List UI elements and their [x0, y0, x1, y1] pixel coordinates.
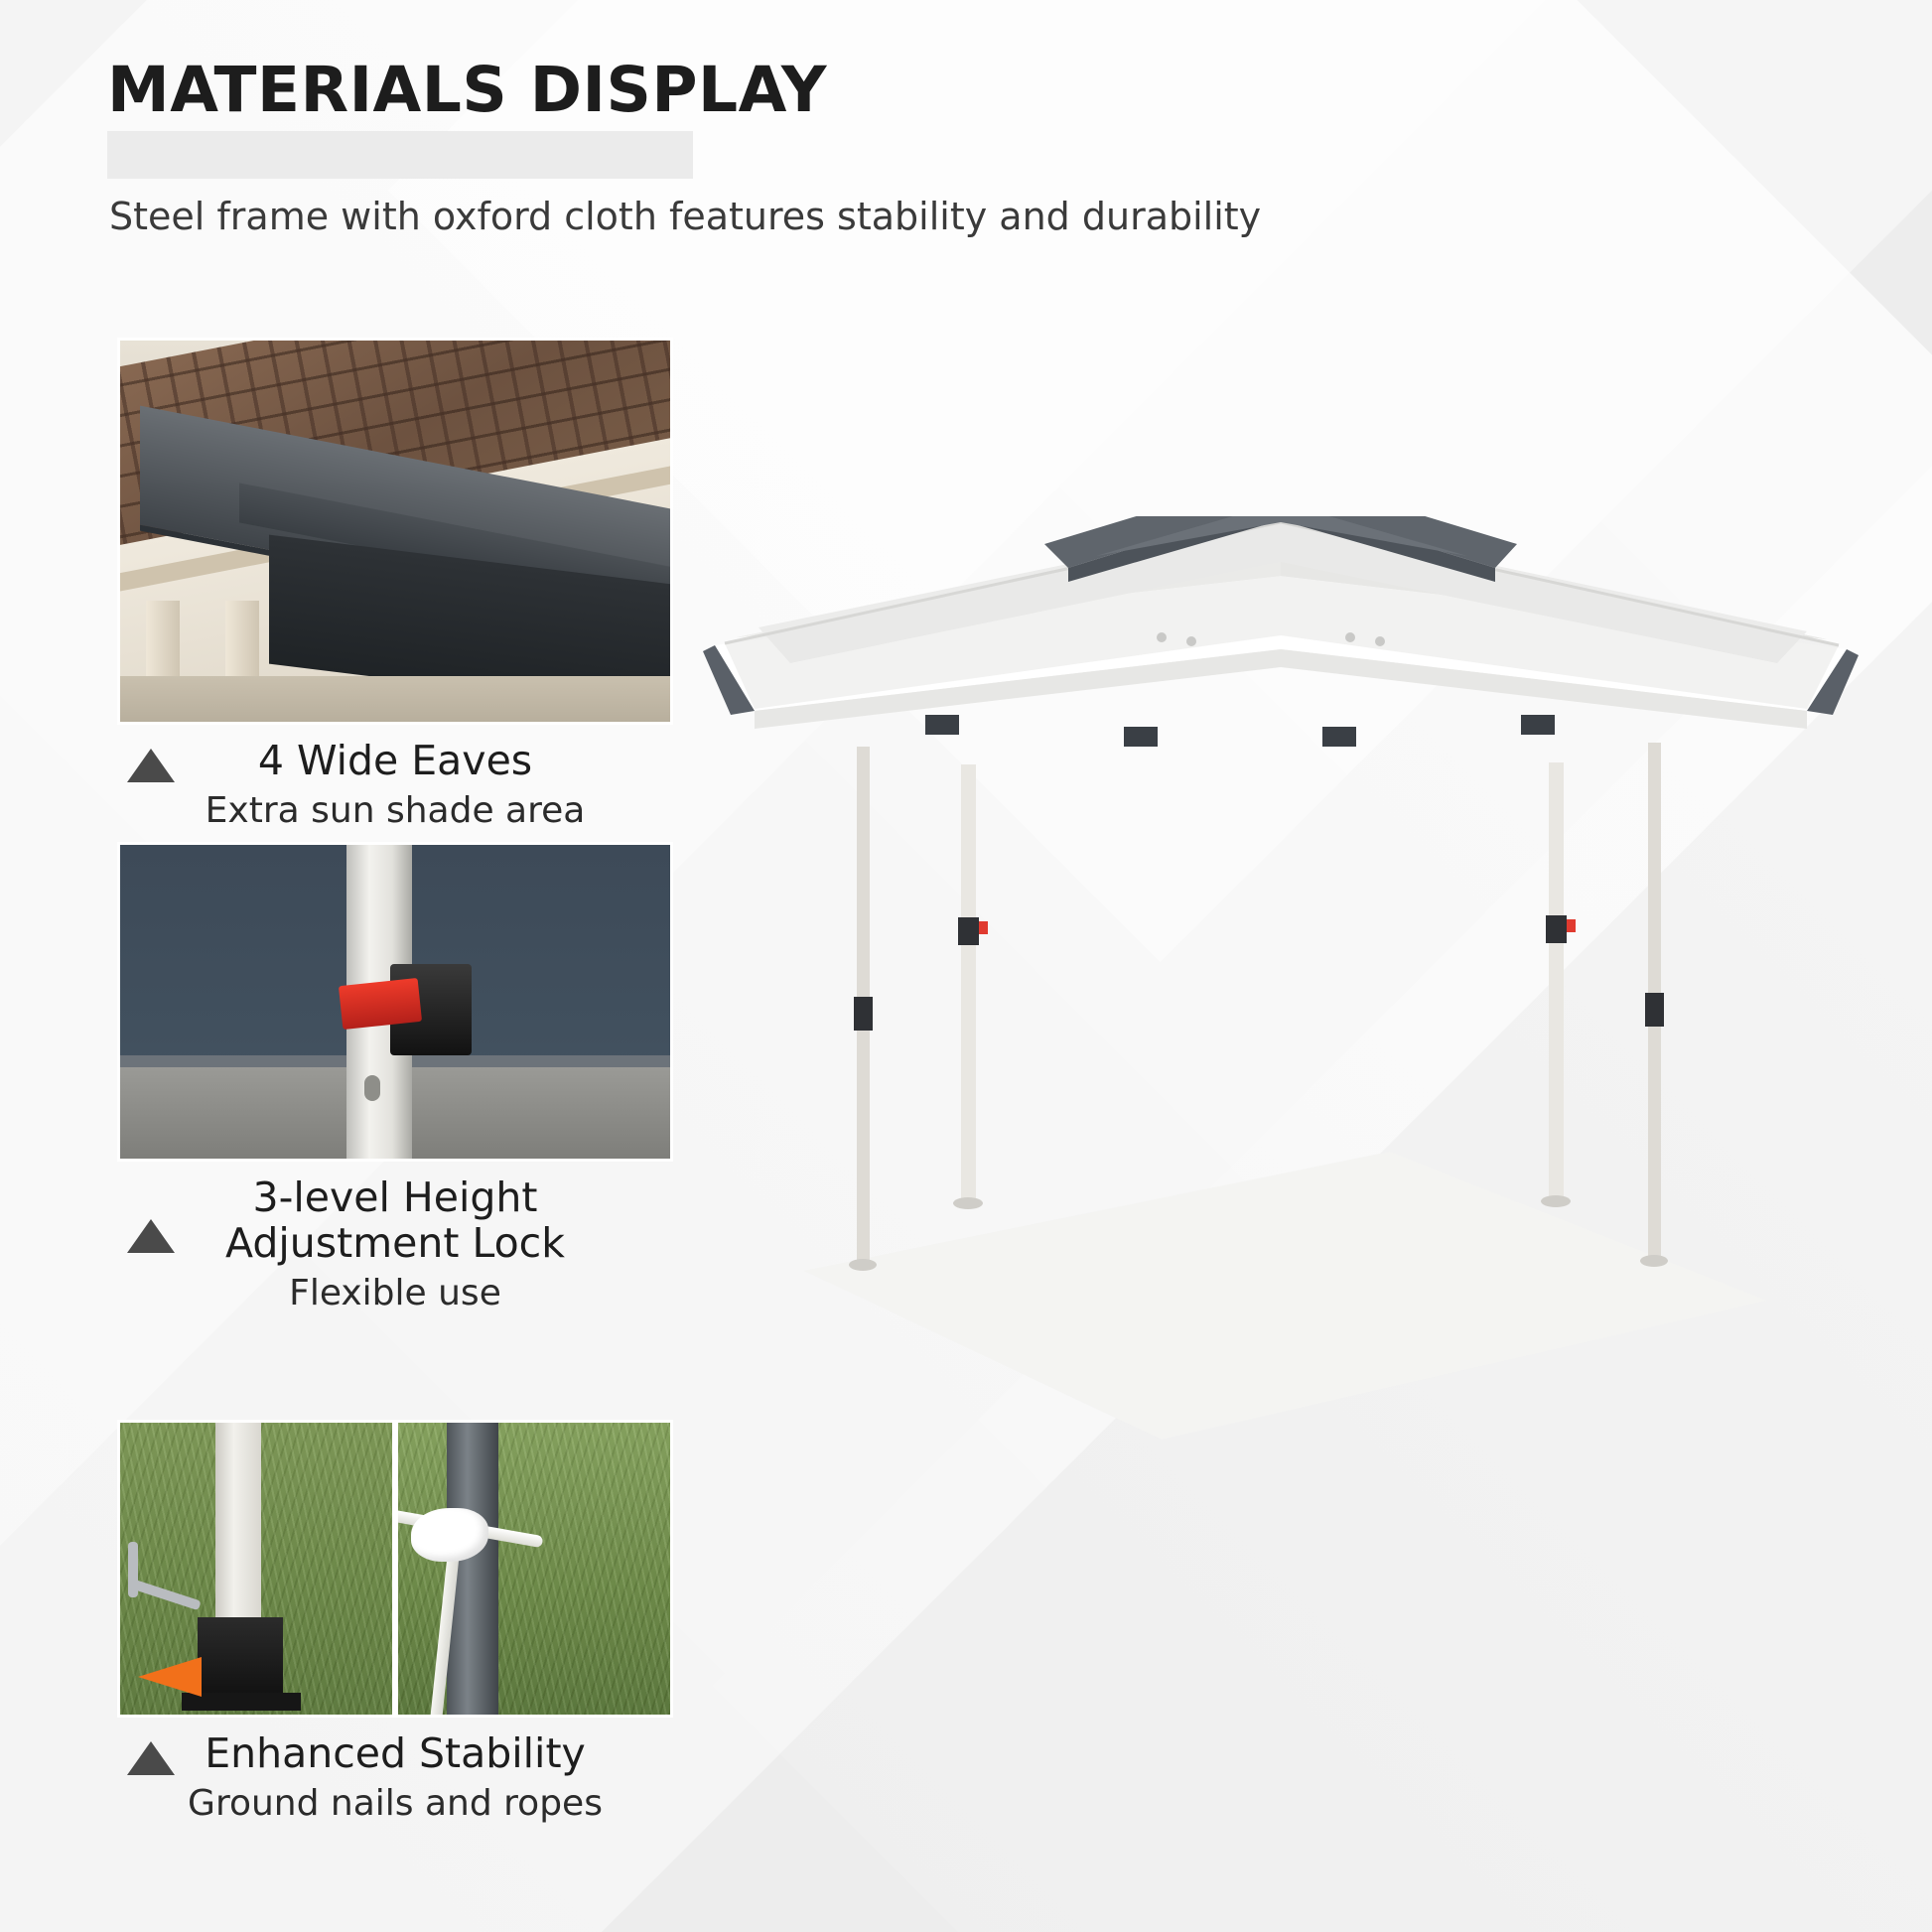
feature-caption-wide-eaves: 4 Wide Eaves Extra sun shade area	[117, 739, 673, 831]
triangle-marker-icon	[127, 749, 175, 782]
feature-caption-main: 4 Wide Eaves	[117, 739, 673, 784]
product-illustration-gazebo	[695, 516, 1866, 1598]
poster-canvas: MATERIALS DISPLAY Steel frame with oxfor…	[0, 0, 1932, 1932]
feature-caption-main-line1: 3-level Height	[117, 1175, 673, 1221]
title-highlight-band	[107, 131, 693, 179]
feature-enhanced-stability: Enhanced Stability Ground nails and rope…	[117, 1420, 673, 1824]
feature-wide-eaves: 4 Wide Eaves Extra sun shade area	[117, 338, 673, 831]
feature-caption-height-lock: 3-level Height Adjustment Lock Flexible …	[117, 1175, 673, 1313]
triangle-marker-icon	[127, 1219, 175, 1253]
feature-caption-main-line2: Adjustment Lock	[117, 1221, 673, 1267]
feature-caption-main: Enhanced Stability	[117, 1731, 673, 1777]
feature-image-height-lock	[117, 842, 673, 1162]
triangle-marker-icon	[127, 1741, 175, 1775]
page-title: MATERIALS DISPLAY	[107, 54, 827, 126]
feature-image-enhanced-stability	[117, 1420, 673, 1718]
feature-caption-sub: Extra sun shade area	[117, 790, 673, 831]
feature-caption-sub: Ground nails and ropes	[117, 1783, 673, 1824]
feature-caption-enhanced-stability: Enhanced Stability Ground nails and rope…	[117, 1731, 673, 1824]
page-subtitle: Steel frame with oxford cloth features s…	[109, 195, 1261, 238]
feature-image-wide-eaves	[117, 338, 673, 725]
feature-height-lock: 3-level Height Adjustment Lock Flexible …	[117, 842, 673, 1313]
feature-caption-sub: Flexible use	[117, 1273, 673, 1313]
